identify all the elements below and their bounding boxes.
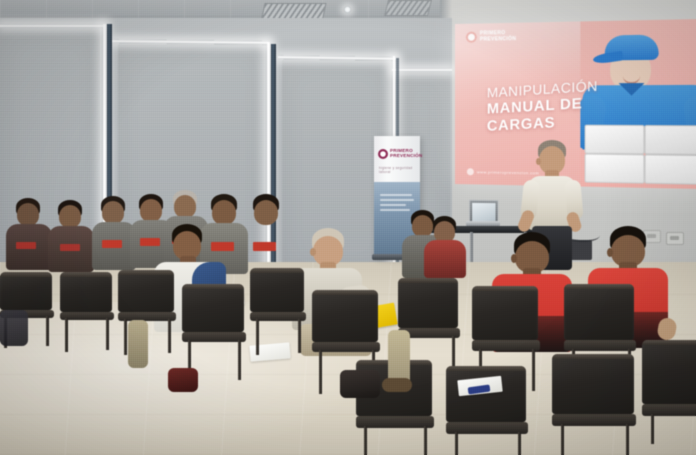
ceiling-downlight-icon <box>344 6 351 13</box>
presenter-ear <box>536 158 541 165</box>
attendee-head <box>140 199 162 222</box>
uniform-logo-patch <box>102 240 122 248</box>
primero-prevencion-banner-logo-icon <box>378 149 388 159</box>
attendee-ear <box>607 248 613 257</box>
laptop-keyboard[interactable] <box>466 221 500 226</box>
attendee-head <box>212 200 236 225</box>
uniform-logo-patch <box>253 242 276 251</box>
uniform-logo-patch <box>16 242 36 249</box>
attendee <box>242 194 290 274</box>
backpack[interactable] <box>0 310 28 346</box>
banner-subtitle: higiene y seguridad laboral <box>379 166 420 174</box>
attendee-leg <box>128 320 148 368</box>
slide-logo: PRIMERO PREVENCIÓN <box>466 31 516 43</box>
attendee <box>424 216 466 278</box>
blind-light-seam <box>0 24 104 28</box>
attendee-ear <box>511 254 517 263</box>
attendee-head <box>254 200 278 225</box>
chair[interactable] <box>250 268 308 342</box>
primero-prevencion-logo-icon <box>466 32 477 43</box>
attendee-head <box>102 201 124 224</box>
uniform-logo-patch <box>60 244 80 251</box>
table-leg <box>470 232 473 262</box>
chair[interactable] <box>60 272 116 342</box>
attendee-head <box>174 195 196 218</box>
backpack[interactable] <box>340 370 380 398</box>
attendee <box>48 200 94 272</box>
chair[interactable] <box>182 284 248 368</box>
backpack[interactable] <box>168 368 198 392</box>
slide-logo-line2: PREVENCIÓN <box>480 36 516 42</box>
slide-title: MANIPULACIÓN MANUAL DE CARGAS <box>487 77 611 135</box>
chair[interactable] <box>552 354 638 454</box>
chair[interactable] <box>118 270 178 344</box>
attendee-head <box>17 203 39 226</box>
chair[interactable] <box>642 340 696 444</box>
attendee-shirt <box>424 240 466 278</box>
banner-logo-line2: PREVENCIÓN <box>390 154 422 159</box>
blind-light-seam <box>392 68 452 72</box>
training-room-photo: PRIMERO PREVENCIÓN MANIPULACIÓN MANUAL D… <box>0 0 696 455</box>
banner-top-panel <box>374 136 420 182</box>
attendee-ear <box>310 248 316 256</box>
attendee-head <box>59 205 81 228</box>
attendee-shoe <box>382 378 412 392</box>
air-vent-secondary-icon <box>384 0 432 16</box>
slide-footer-dot-icon <box>467 168 474 175</box>
chair[interactable] <box>472 286 542 378</box>
attendee <box>6 198 52 270</box>
slide-worker-boxes <box>585 125 696 189</box>
banner-logo: PRIMERO PREVENCIÓN <box>378 149 422 159</box>
